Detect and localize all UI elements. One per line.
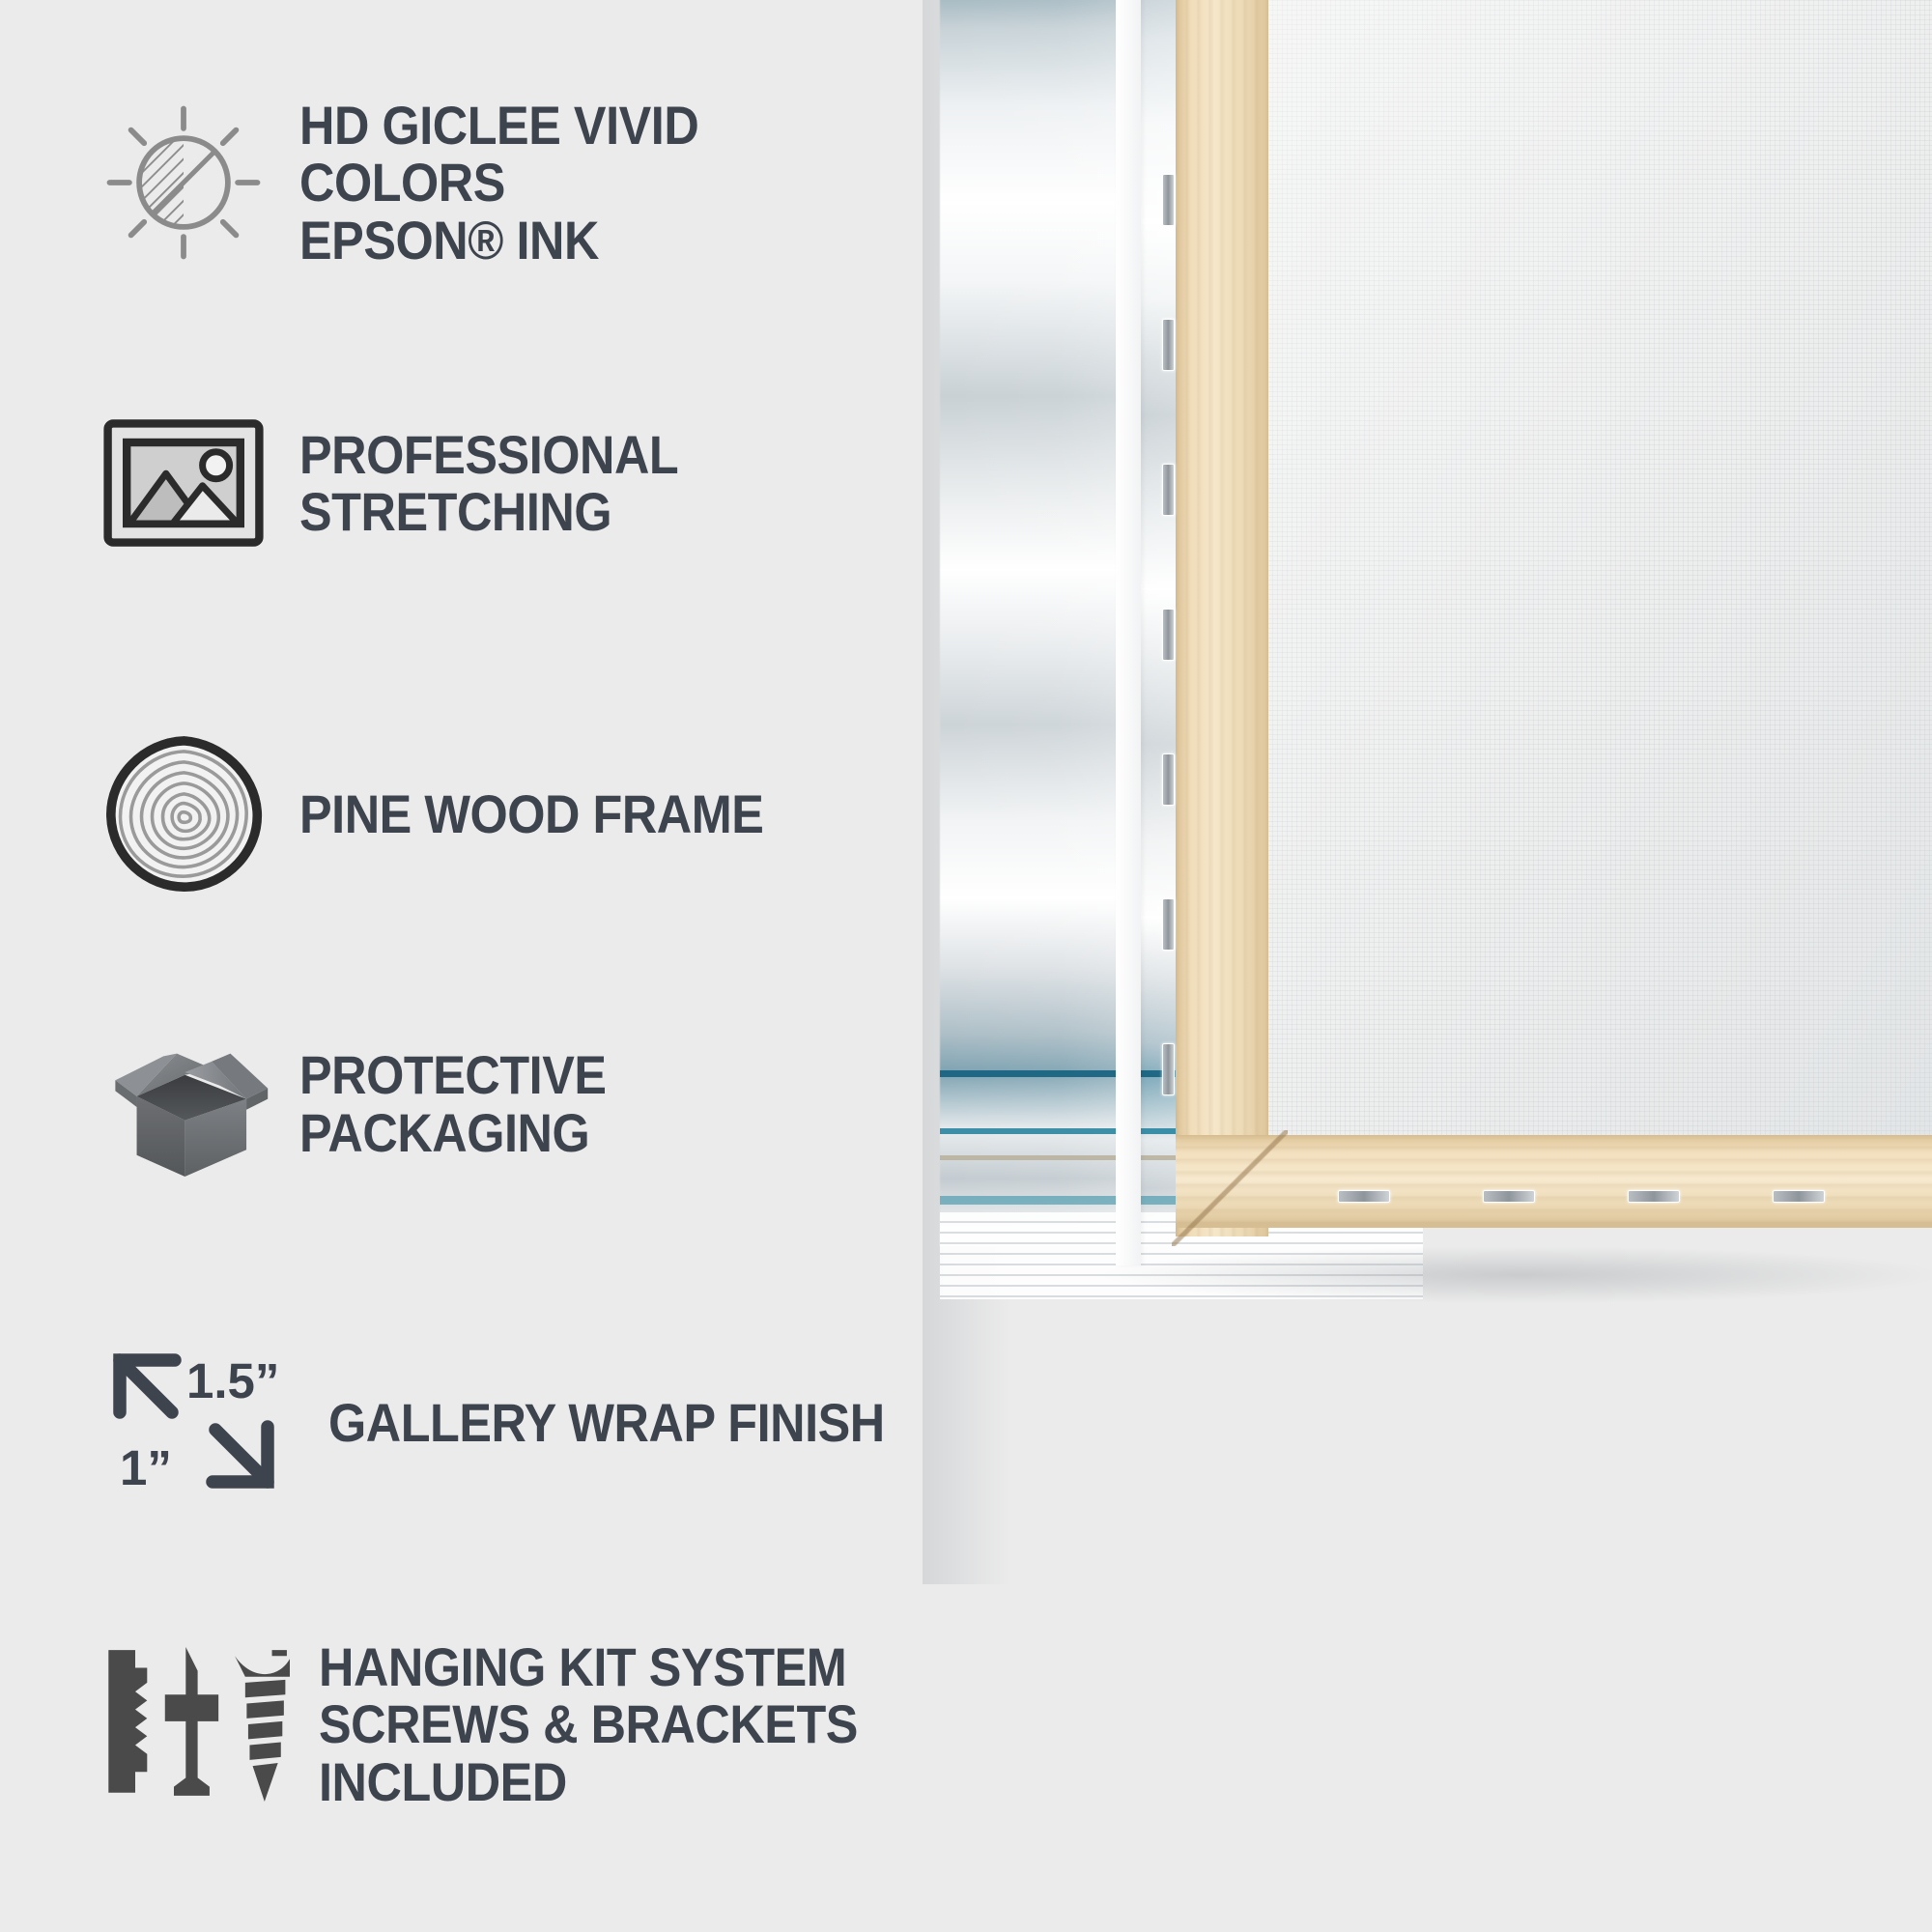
pine-stretcher-bar-vertical — [1176, 0, 1268, 1236]
feature-item-pine-wood-frame: PINE WOOD FRAME — [97, 734, 815, 894]
drop-shadow — [1096, 1246, 1932, 1304]
staple — [1162, 174, 1175, 226]
canvas-back-fabric — [1263, 0, 1932, 1150]
infographic-root: HD GICLEE VIVID COLORS EPSON® INK PROFES… — [0, 0, 1932, 1932]
staple — [1483, 1190, 1535, 1203]
staple — [1338, 1190, 1390, 1203]
framed-picture-icon — [97, 415, 270, 551]
staple — [1773, 1190, 1825, 1203]
staple — [1162, 753, 1175, 806]
feature-label: PROFESSIONAL STRETCHING — [299, 426, 899, 541]
mitre-joint — [1172, 1130, 1288, 1246]
feature-item-professional-stretching: PROFESSIONAL STRETCHING — [97, 415, 966, 551]
measurement-bottom-label: 1” — [120, 1440, 172, 1495]
feature-label: HANGING KIT SYSTEM SCREWS & BRACKETS INC… — [319, 1638, 901, 1810]
feature-label: PROTECTIVE PACKAGING — [299, 1046, 899, 1161]
feature-label: HD GICLEE VIVID COLORS EPSON® INK — [299, 97, 899, 269]
feature-item-protective-packaging: PROTECTIVE PACKAGING — [97, 1024, 966, 1183]
staple — [1628, 1190, 1680, 1203]
feature-label: PINE WOOD FRAME — [299, 785, 763, 842]
pine-stretcher-bar-horizontal — [1176, 1135, 1932, 1228]
feature-list: HD GICLEE VIVID COLORS EPSON® INK PROFES… — [0, 0, 966, 1932]
white-canvas-rim — [1116, 0, 1141, 1265]
sun-hatched-icon — [97, 100, 270, 265]
tree-rings-icon — [97, 734, 270, 894]
feature-item-hanging-kit: HANGING KIT SYSTEM SCREWS & BRACKETS INC… — [97, 1633, 966, 1816]
staple — [1162, 609, 1175, 661]
open-box-icon — [97, 1024, 270, 1183]
feature-item-gallery-wrap-finish: 1.5” 1” GALLERY WRAP FINISH — [97, 1343, 947, 1502]
measurement-top-label: 1.5” — [186, 1353, 279, 1408]
dimension-arrows-icon: 1.5” 1” — [97, 1343, 299, 1502]
feature-item-hd-giclee: HD GICLEE VIVID COLORS EPSON® INK — [97, 97, 966, 269]
staple — [1162, 464, 1175, 516]
staple — [1162, 319, 1175, 371]
feature-label: GALLERY WRAP FINISH — [328, 1394, 885, 1451]
staple — [1162, 898, 1175, 951]
hardware-bracket-nail-screw-icon — [97, 1633, 290, 1816]
canvas-corner-photo — [923, 0, 1932, 1932]
staple — [1162, 1043, 1175, 1095]
